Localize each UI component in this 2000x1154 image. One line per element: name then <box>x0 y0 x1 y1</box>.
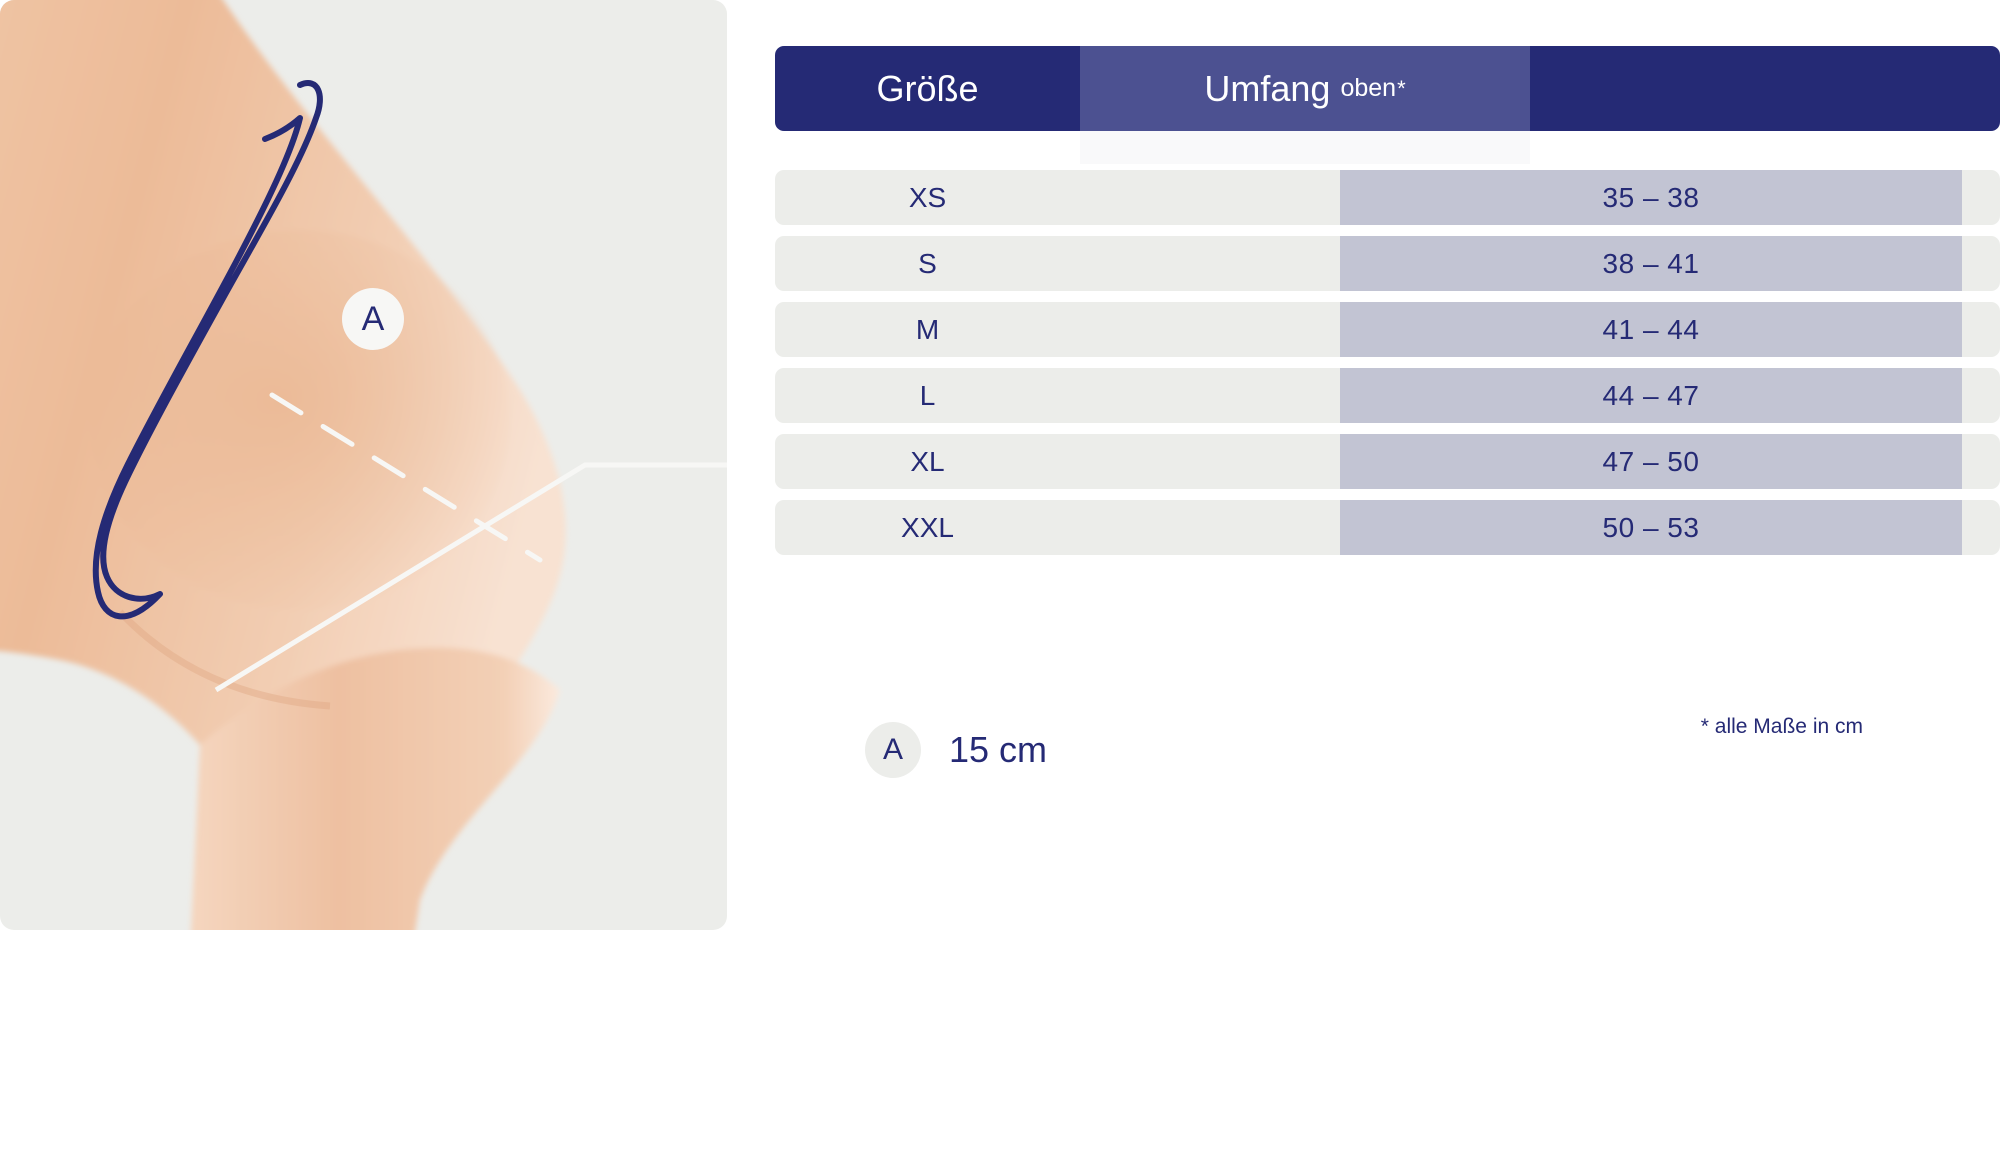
cell-size: XS <box>775 170 1080 225</box>
cell-spacer <box>1080 170 1340 225</box>
size-chart-page: A Größe Umfang oben * XS 35 – 38 <box>0 0 2000 1154</box>
cell-tail <box>1962 500 2000 555</box>
legend-value: 15 cm <box>949 729 1047 771</box>
cell-tail <box>1962 368 2000 423</box>
cell-size: XXL <box>775 500 1080 555</box>
cell-tail <box>1962 434 2000 489</box>
cell-size: S <box>775 236 1080 291</box>
header-umfang-asterisk: * <box>1397 76 1406 102</box>
table-row: M 41 – 44 <box>775 302 2000 357</box>
legend-a-badge: A <box>865 722 921 778</box>
leg-illustration <box>0 0 727 930</box>
cell-umfang-oben: 50 – 53 <box>1340 500 1962 555</box>
header-size-label: Größe <box>876 68 978 110</box>
cell-size: M <box>775 302 1080 357</box>
table-row: S 38 – 41 <box>775 236 2000 291</box>
marker-a-label: A <box>362 300 385 339</box>
measurement-legend: A 15 cm <box>865 722 1047 778</box>
cell-umfang-oben: 35 – 38 <box>1340 170 1962 225</box>
table-row: XS 35 – 38 <box>775 170 2000 225</box>
header-umfang-sub: oben <box>1340 74 1396 103</box>
cell-spacer <box>1080 368 1340 423</box>
table-row: XL 47 – 50 <box>775 434 2000 489</box>
knee-illustration-panel: A <box>0 0 727 930</box>
leg-shape <box>0 0 566 930</box>
cell-spacer <box>1080 236 1340 291</box>
header-umfang-label: Umfang <box>1204 68 1330 110</box>
cell-spacer <box>1080 434 1340 489</box>
cell-spacer <box>1080 500 1340 555</box>
cell-tail <box>1962 302 2000 357</box>
header-underband <box>1080 131 1530 164</box>
table-row: L 44 – 47 <box>775 368 2000 423</box>
cell-umfang-oben: 38 – 41 <box>1340 236 1962 291</box>
cell-size: L <box>775 368 1080 423</box>
cell-umfang-oben: 44 – 47 <box>1340 368 1962 423</box>
table-row: XXL 50 – 53 <box>775 500 2000 555</box>
header-cell-umfang: Umfang oben * <box>1080 46 1530 131</box>
table-footnote: * alle Maße in cm <box>1701 715 1863 739</box>
marker-a-badge: A <box>342 288 404 350</box>
cell-spacer <box>1080 302 1340 357</box>
cell-umfang-oben: 47 – 50 <box>1340 434 1962 489</box>
header-cell-overflow <box>1530 46 2000 131</box>
header-cell-size: Größe <box>775 46 1080 131</box>
table-header-row: Größe Umfang oben * <box>775 46 2000 131</box>
cell-tail <box>1962 170 2000 225</box>
size-table: Größe Umfang oben * XS 35 – 38 S 38 – 41 <box>775 46 2000 566</box>
cell-umfang-oben: 41 – 44 <box>1340 302 1962 357</box>
table-body: XS 35 – 38 S 38 – 41 M 41 – 44 L 44 <box>775 170 2000 555</box>
cell-tail <box>1962 236 2000 291</box>
cell-size: XL <box>775 434 1080 489</box>
legend-a-label: A <box>883 733 903 767</box>
